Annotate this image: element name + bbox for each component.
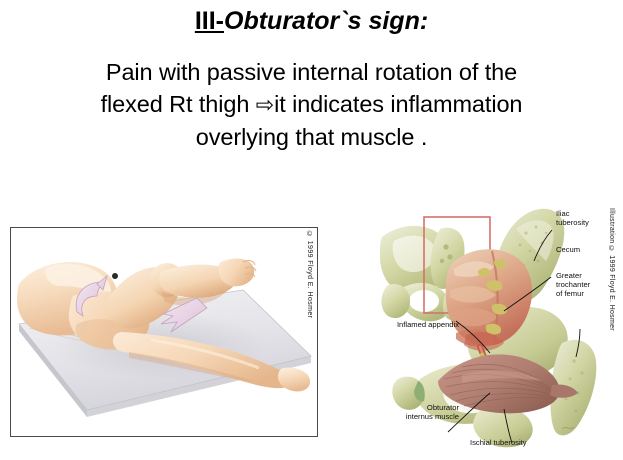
label-cecum: Cecum [556,245,606,254]
maneuver-drawing [11,228,316,435]
rightwards-arrow-icon: ⇨ [256,92,274,117]
label-inflamed-appendix: Inflamed appendix [383,320,459,329]
left-figure-copyright: © 1999 Floyd E. Hosmer [299,231,313,351]
page-title: III-Obturator`s sign: [0,6,623,36]
label-obturator-internus-muscle: Obturator internus muscle [383,403,459,421]
title-subject: Obturator`s sign: [224,7,428,35]
body-line-2-before: flexed Rt thigh [101,91,256,117]
label-ischial-tuberosity: Ischial tuberosity [470,438,558,447]
obturator-sign-maneuver-illustration [10,227,318,437]
slide-canvas: III-Obturator`s sign: Pain with passive … [0,0,623,460]
umbilicus-marker [112,273,118,279]
right-figure-copyright: Illustration © 1999 Floyd E. Hosmer [602,208,615,338]
title-numeral: III- [195,7,224,35]
body-line-2-after: it indicates inflammation [274,91,522,117]
body-line-3: overlying that muscle . [196,124,428,150]
body-line-1: Pain with passive internal rotation of t… [106,59,517,85]
body-text: Pain with passive internal rotation of t… [12,56,611,153]
